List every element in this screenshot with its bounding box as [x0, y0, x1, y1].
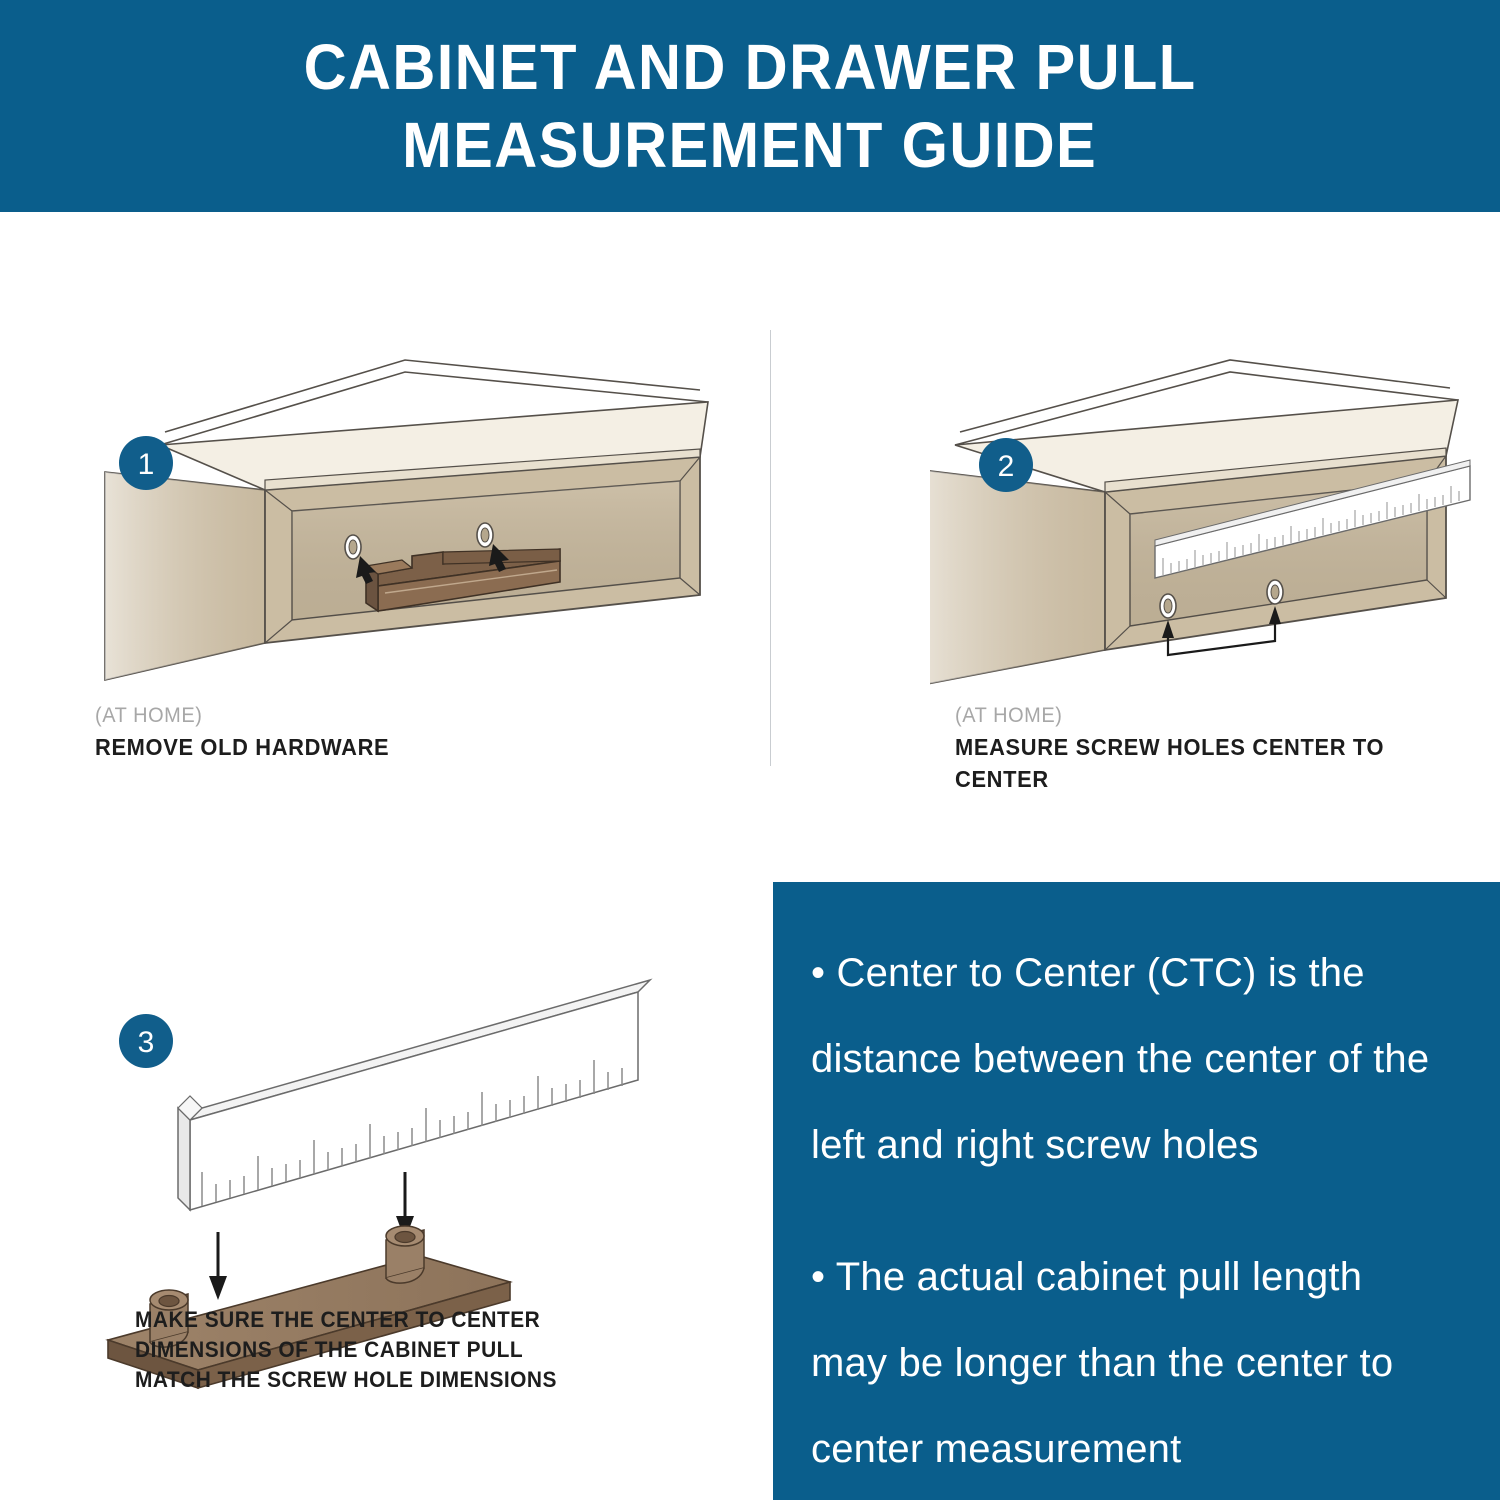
step-3-caption-line-1: MAKE SURE THE CENTER TO CENTER — [135, 1305, 557, 1335]
step-3-badge-label: 3 — [138, 1026, 155, 1059]
info-bullet-1: • Center to Center (CTC) is the distance… — [811, 930, 1448, 1188]
step-2-caption: (AT HOME) MEASURE SCREW HOLES CENTER TO … — [955, 700, 1500, 795]
info-bullet-2: • The actual cabinet pull length may be … — [811, 1234, 1448, 1492]
ruler-icon — [178, 980, 650, 1210]
step-1-badge: 1 — [118, 435, 174, 491]
step-1-caption: (AT HOME) REMOVE OLD HARDWARE — [95, 700, 405, 763]
info-box: • Center to Center (CTC) is the distance… — [773, 882, 1500, 1500]
step-1-sub-caption: (AT HOME) — [95, 700, 389, 731]
step-2-sub-caption: (AT HOME) — [955, 700, 1473, 731]
page-title-line-2: MEASUREMENT GUIDE — [402, 106, 1097, 184]
vertical-divider — [770, 330, 771, 766]
step-1-caption-line-1: REMOVE OLD HARDWARE — [95, 731, 389, 763]
step-3-caption: MAKE SURE THE CENTER TO CENTER DIMENSION… — [135, 1305, 579, 1395]
step-3-caption-line-2: DIMENSIONS OF THE CABINET PULL — [135, 1335, 557, 1365]
step-2-badge-label: 2 — [998, 450, 1015, 483]
step-2-badge: 2 — [978, 437, 1034, 493]
step-3-caption-line-3: MATCH THE SCREW HOLE DIMENSIONS — [135, 1365, 557, 1395]
step-2-caption-line-1: MEASURE SCREW HOLES CENTER TO CENTER — [955, 731, 1473, 795]
header-banner: CABINET AND DRAWER PULL MEASUREMENT GUID… — [0, 0, 1500, 212]
step-1-badge-label: 1 — [138, 448, 155, 481]
step-3-badge: 3 — [118, 1013, 174, 1069]
page-title-line-1: CABINET AND DRAWER PULL — [304, 28, 1197, 106]
